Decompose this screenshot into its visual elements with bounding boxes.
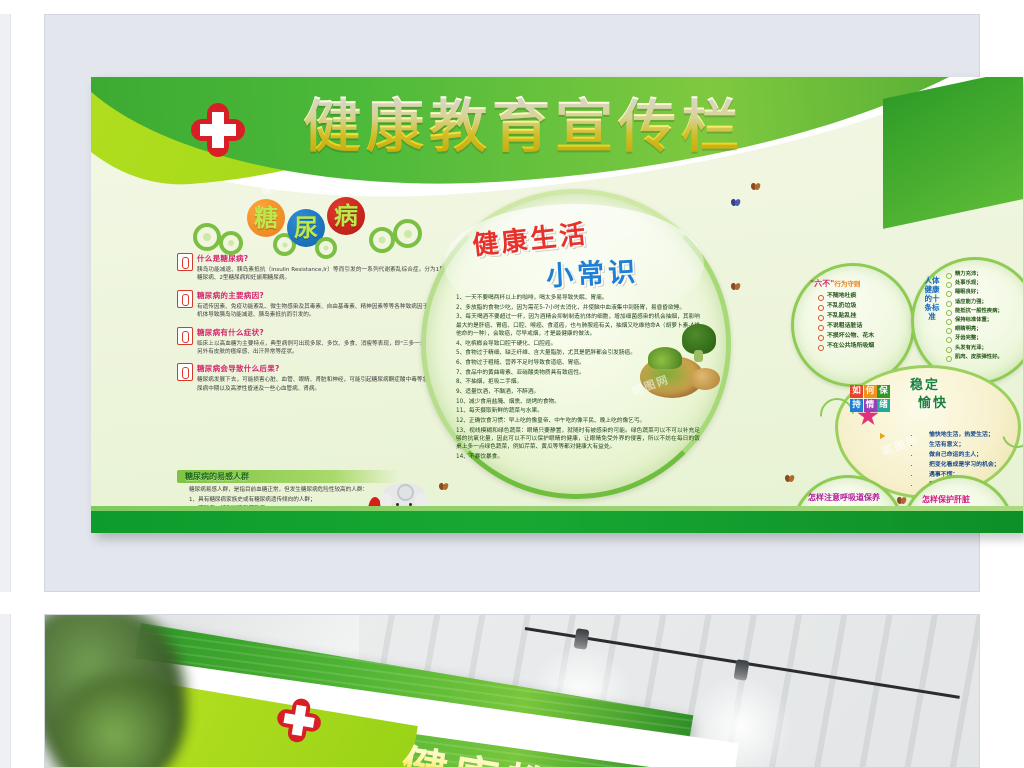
butterfly-icon [731, 199, 740, 206]
qa-item: 糖尿病会导致什么后果? 糖尿病发展下去，可能损害心脏、血管、眼睛、肾脏和神经，可… [177, 363, 445, 393]
list-item: 适应能力强； [946, 298, 1003, 307]
qa-answer: 糖尿病发展下去，可能损害心脏、血管、眼睛、肾脏和神经，可能引起糖尿病酮症酸中毒等… [197, 376, 445, 393]
list-item: 精力充沛； [946, 270, 1003, 279]
list-item: 能抵抗一般性疾病； [946, 307, 1003, 316]
qa-item: 糖尿病有什么症状? 临床上以高血糖为主要特点，典型病例可出现多尿、多饮、多食、消… [177, 327, 445, 357]
six-nots-title-sub: 行为守则 [834, 280, 860, 288]
tip-item: 1、一天不要喝两杯以上的咖啡，喝太多易导致失眠、胃痛。 [456, 294, 700, 302]
preview-panel-flat: 健康教育宣传栏 健康教育宣传栏 糖 尿 病 什么是糖尿病? 胰岛功能减退、胰岛 [44, 14, 980, 592]
list-item: 眼睛明亮； [946, 325, 1003, 334]
list-item: 把变化看成是学习的机会； [920, 460, 1000, 470]
title-block: 情 [864, 399, 877, 412]
broccoli-photo [682, 324, 716, 354]
list-item: 不乱贴乱挂 [818, 312, 874, 321]
qa-question: 什么是糖尿病? [197, 253, 445, 264]
title-block: 持 [850, 399, 863, 412]
tip-item: 2、多放脂的食物少吃，因为需花5-7小时去消化，并使脑中血液集中到肠胃，易昏昏欲… [456, 304, 700, 312]
banner-bottom-bar [91, 511, 1023, 533]
list-item: 不说粗话脏话 [818, 322, 874, 331]
qa-answer: 临床上以高血糖为主要特点，典型病例可出现多尿、多饮、多食、消瘦等表现，即"三多一… [197, 340, 445, 357]
six-nots-title-main: "六不" [810, 279, 834, 288]
emotion-word-1: 稳定 [910, 374, 940, 393]
ten-standards-title: 人体健康的十条标准 [924, 276, 940, 321]
book-icon [177, 363, 193, 381]
butterfly-icon [731, 283, 740, 290]
list-item: 不在公共场所吸烟 [818, 342, 874, 351]
title-block: 绪 [877, 399, 890, 412]
list-item: 不损坏公物、花木 [818, 332, 874, 341]
list-item: 牙齿完整； [946, 334, 1003, 343]
list-item: 不乱扔垃圾 [818, 302, 874, 311]
list-item: 肌肉、皮肤弹性好。 [946, 353, 1003, 362]
left-gutter-bottom [0, 614, 11, 768]
swirl-ornament [997, 413, 1023, 454]
diabetes-title-group: 糖 尿 病 [187, 197, 417, 249]
qa-question: 糖尿病有什么症状? [197, 327, 445, 338]
interior-mockup-scene: 健康教 [45, 615, 979, 767]
qa-item: 什么是糖尿病? 胰岛功能减退、胰岛素抵抗（insulin Resistance,… [177, 253, 445, 283]
list-item: 头发有光泽； [946, 344, 1003, 353]
deco-ring [369, 227, 395, 253]
diabetes-qa-list: 什么是糖尿病? 胰岛功能减退、胰岛素抵抗（insulin Resistance,… [177, 253, 445, 400]
deco-ring [193, 223, 221, 251]
tip-item: 14、不暴饮暴食。 [456, 453, 700, 461]
ten-standards-list: 精力充沛； 处事乐观； 睡眠良好； 适应能力强； 能抵抗一般性疾病； 保持标准体… [946, 270, 1003, 362]
qa-question: 糖尿病会导致什么后果? [197, 363, 445, 374]
healthy-living-circle: 健康生活 小常识 1、一天不要喝两杯以上的咖啡，喝太多易导致失眠、胃痛。 2、多… [421, 189, 731, 499]
tip-item: 11、每天摄取新鲜的蔬菜与水果。 [456, 407, 700, 415]
book-icon [177, 290, 193, 308]
butterfly-icon [439, 483, 448, 490]
medical-cross-icon [274, 695, 325, 746]
list-item: 做自己命运的主人； [920, 450, 1000, 460]
list-item: 处事乐观； [946, 279, 1003, 288]
book-icon [177, 327, 193, 345]
emotion-title-row2: 持情绪 [850, 392, 891, 412]
potato-photo [690, 368, 720, 390]
qa-item: 糖尿病的主要病因? 有遗传因素、免疫功能紊乱、微生物感染及其毒素、自由基毒素、精… [177, 290, 445, 320]
health-education-banner: 健康教育宣传栏 健康教育宣传栏 糖 尿 病 什么是糖尿病? 胰岛功能减退、胰岛 [91, 77, 1023, 533]
list-item: 睡眠良好； [946, 288, 1003, 297]
tip-item: 13、视线模糊和绿色蔬菜：眼睛只要静置，就随时有被感染的可能。绿色蔬菜可以不可以… [456, 427, 700, 452]
list-item: 保持标准体重； [946, 316, 1003, 325]
six-nots-title: "六不"行为守则 [810, 278, 860, 289]
list-item: 生活有意义； [920, 440, 1000, 450]
susceptible-heading-bar: 糖尿病的易感人群 [177, 470, 399, 483]
list-item: 愉快地生活，热爱生活； [920, 430, 1000, 440]
tip-item: 3、每天喝酒不要超过一杯，因为酒精会抑制制造抗体的细胞，增加细菌感染的机会抽烟，… [456, 313, 700, 338]
list-item: 不随地吐痰 [818, 292, 874, 301]
emotion-word-2: 愉快 [918, 392, 948, 411]
tip-item: 10、减少食用盐腌、烟熏、烧烤的食物。 [456, 398, 700, 406]
butterfly-icon [897, 497, 906, 504]
page-root: 健康教育宣传栏 健康教育宣传栏 糖 尿 病 什么是糖尿病? 胰岛功能减退、胰岛 [0, 0, 1024, 768]
qa-answer: 有遗传因素、免疫功能紊乱、微生物感染及其毒素、自由基毒素、精神因素等等各种致病因… [197, 303, 445, 320]
left-gutter-top [0, 14, 11, 592]
tip-item: 12、正确饮食习惯：早上吃的像皇帝、中午吃的像平民、晚上吃的像乞丐。 [456, 417, 700, 425]
deco-ring [219, 231, 243, 255]
butterfly-icon [785, 475, 794, 482]
butterfly-icon [751, 183, 760, 190]
qa-answer: 胰岛功能减退、胰岛素抵抗（insulin Resistance,Ir）等而引发的… [197, 266, 445, 283]
deco-ring [393, 219, 422, 248]
book-icon [177, 253, 193, 271]
qa-question: 糖尿病的主要病因? [197, 290, 445, 301]
susceptible-heading: 糖尿病的易感人群 [177, 470, 399, 483]
page-title: 健康教育宣传栏 [303, 91, 923, 161]
diabetes-char-2: 病 [327, 197, 365, 235]
respiratory-title: 怎样注意呼吸道保养 [808, 492, 880, 503]
head-mirror-icon [397, 484, 414, 501]
liver-title: 怎样保护肝脏 [922, 494, 970, 505]
preview-panel-mockup: 健康教 [44, 614, 980, 768]
six-nots-list: 不随地吐痰 不乱扔垃圾 不乱贴乱挂 不说粗话脏话 不损坏公物、花木 不在公共场所… [818, 292, 874, 352]
medical-cross-icon [191, 103, 245, 157]
diabetes-char-0: 糖 [247, 199, 285, 237]
